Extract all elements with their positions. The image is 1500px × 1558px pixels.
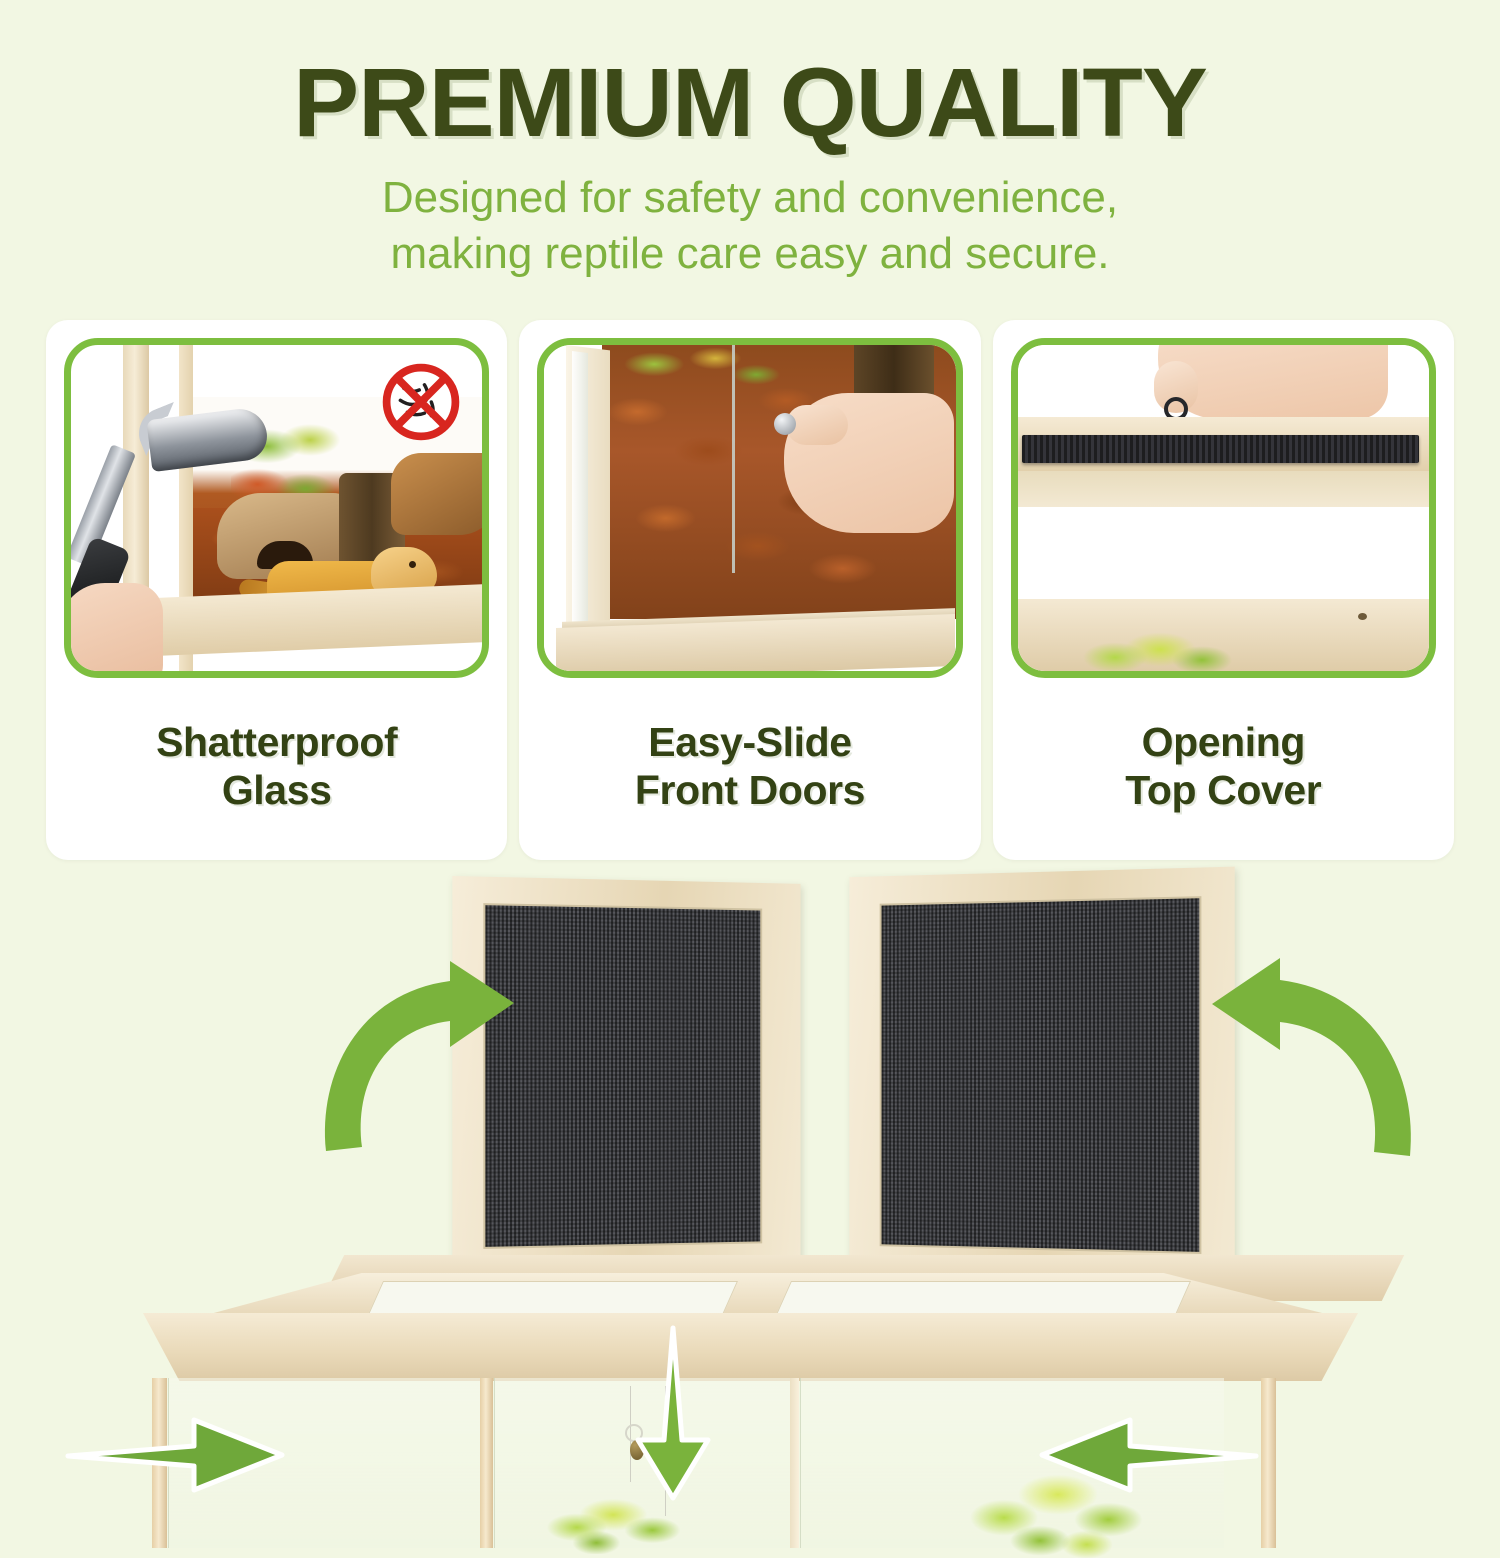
arrow-right-door-icon (1040, 1412, 1256, 1498)
mesh-screen-cover[interactable] (1022, 435, 1419, 463)
feature-card-easy-slide-front-doors: Easy-Slide Front Doors (519, 320, 980, 860)
corner-post-right (1261, 1378, 1276, 1548)
terrarium-top-frame (143, 1255, 1358, 1375)
shatterproof-glass-photo (64, 338, 489, 678)
glass-door-edge (732, 345, 735, 573)
arrow-left-lid-icon (318, 955, 558, 1155)
left-top-opening (367, 1281, 738, 1317)
feature-caption-opening-top-cover: Opening Top Cover (1011, 678, 1436, 860)
hand-holding-hammer (64, 583, 163, 678)
opening-top-cover-photo (1011, 338, 1436, 678)
artificial-plant (1082, 631, 1232, 675)
feature-caption-shatterproof-glass: Shatterproof Glass (64, 678, 489, 860)
right-mesh-screen (880, 896, 1202, 1254)
open-door-glass-pane (572, 351, 588, 640)
caption-line-2: Top Cover (1125, 766, 1321, 814)
subtitle: Designed for safety and convenience, mak… (0, 170, 1500, 283)
feature-card-list: Shatterproof Glass Easy-Slide Fr (46, 320, 1454, 860)
easy-slide-doors-photo (537, 338, 962, 678)
subtitle-line-1: Designed for safety and convenience, (0, 170, 1500, 226)
arrow-front-door-icon (630, 1328, 716, 1500)
no-crack-icon (378, 359, 464, 445)
moss-decor (610, 341, 780, 399)
page-title: PREMIUM QUALITY (0, 52, 1500, 154)
driftwood-decor (391, 453, 489, 535)
caption-line-2: Front Doors (635, 766, 865, 814)
subtitle-line-2: making reptile care easy and secure. (0, 226, 1500, 282)
arrow-left-door-icon (68, 1412, 284, 1498)
caption-line-1: Shatterproof (156, 718, 397, 766)
header: PREMIUM QUALITY Designed for safety and … (0, 0, 1500, 282)
arrow-right-lid-icon (1168, 950, 1418, 1160)
caption-line-1: Opening (1125, 718, 1321, 766)
feature-caption-easy-slide-front-doors: Easy-Slide Front Doors (537, 678, 962, 860)
caption-line-2: Glass (156, 766, 397, 814)
center-post-right (790, 1378, 799, 1548)
door-knob[interactable] (774, 413, 796, 435)
screw-hole (1358, 613, 1367, 620)
front-top-rail (143, 1313, 1358, 1381)
bearded-dragon-eye (409, 561, 416, 568)
feature-card-shatterproof-glass: Shatterproof Glass (46, 320, 507, 860)
feature-card-opening-top-cover: Opening Top Cover (993, 320, 1454, 860)
right-top-opening (775, 1281, 1191, 1317)
center-post-left (480, 1378, 493, 1548)
caption-line-1: Easy-Slide (635, 718, 865, 766)
wood-rail-lower (1018, 471, 1429, 507)
